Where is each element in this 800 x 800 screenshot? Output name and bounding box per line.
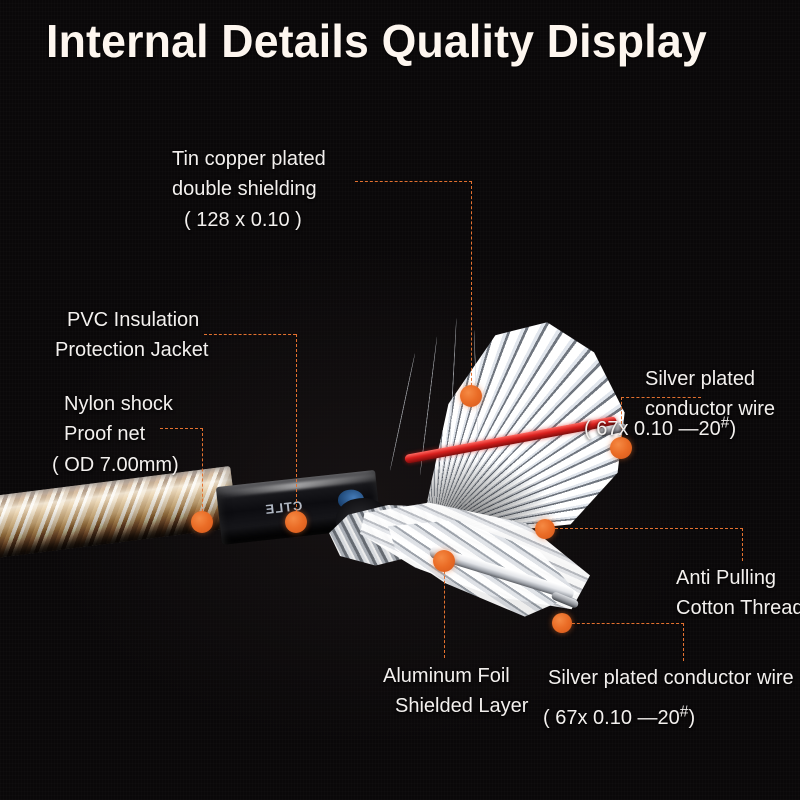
leader-line-aluminum-vertical (444, 561, 445, 658)
leader-line-pvc-vertical (296, 334, 297, 522)
infographic-canvas: CTLE Internal Details Quality Display (0, 0, 800, 800)
callout-tin-copper-plated-double-shielding: Tin copper plated double shielding ( 128… (172, 144, 326, 235)
pvc-jacket-segment: CTLE (216, 470, 381, 545)
callout-line: Anti Pulling (676, 563, 800, 593)
callout-line: Tin copper plated (172, 144, 326, 174)
marker-dot-silver-conductor-bottom[interactable] (552, 613, 572, 633)
spec-prefix: ( 67x 0.10 —20 (543, 707, 680, 729)
callout-line: Silver plated conductor wire (548, 663, 794, 693)
leader-line-cotton-horizontal (545, 528, 743, 529)
callout-line: ( OD 7.00mm) (52, 450, 179, 480)
callout-anti-pulling-cotton-thread: Anti Pulling Cotton Thread (676, 563, 800, 624)
callout-pvc-insulation-protection-jacket: PVC Insulation Protection Jacket (55, 305, 208, 366)
cotton-thread-fan (360, 500, 590, 630)
leader-line-tin-copper-vertical (471, 181, 472, 396)
marker-dot-pvc-jacket[interactable] (285, 511, 307, 533)
callout-line: Proof net (52, 419, 179, 449)
callout-line: Cotton Thread (676, 593, 800, 623)
leader-line-tin-copper-horizontal (355, 181, 472, 182)
spec-suffix: ) (729, 418, 736, 440)
callout-line: double shielding (172, 174, 326, 204)
callout-aluminum-foil-shielded-layer: Aluminum Foil Shielded Layer (383, 661, 528, 722)
marker-dot-nylon-net[interactable] (191, 511, 213, 533)
jacket-logo-mark (338, 490, 364, 510)
cable-transition-knot (333, 494, 393, 549)
leader-line-silver-bottom-vertical (683, 623, 684, 661)
callout-silver-plated-conductor-wire-bottom: Silver plated conductor wire (548, 663, 794, 693)
callout-line: Protection Jacket (55, 335, 208, 365)
callout-silver-plated-conductor-wire-top-spec: ( 67x 0.10 —20#) (584, 414, 736, 444)
spec-suffix: ) (688, 707, 695, 729)
callout-nylon-shock-proof-net: Nylon shock Proof net ( OD 7.00mm) (52, 389, 179, 480)
callout-line: Aluminum Foil (383, 661, 528, 691)
leader-line-cotton-vertical (742, 528, 743, 561)
marker-dot-tin-copper[interactable] (460, 385, 482, 407)
marker-dot-aluminum-foil[interactable] (433, 550, 455, 572)
callout-line: ( 128 x 0.10 ) (172, 205, 326, 235)
stray-shield-strand-3 (448, 318, 457, 468)
leader-line-pvc-horizontal (204, 334, 296, 335)
white-conductor-stripped-tip (551, 591, 580, 609)
page-title: Internal Details Quality Display (46, 14, 707, 68)
callout-line: PVC Insulation (55, 305, 208, 335)
leader-line-nylon-vertical (202, 428, 203, 522)
callout-line: Nylon shock (52, 389, 179, 419)
callout-line: Shielded Layer (383, 691, 528, 721)
leader-line-silver-bottom-horizontal (562, 623, 684, 624)
marker-dot-cotton-thread[interactable] (535, 519, 555, 539)
stray-shield-strand-2 (419, 336, 437, 475)
spec-prefix: ( 67x 0.10 —20 (584, 418, 721, 440)
stray-shield-strand-1 (390, 353, 416, 471)
callout-silver-plated-conductor-wire-bottom-spec: ( 67x 0.10 —20#) (543, 703, 695, 733)
callout-line: Silver plated (645, 364, 775, 394)
